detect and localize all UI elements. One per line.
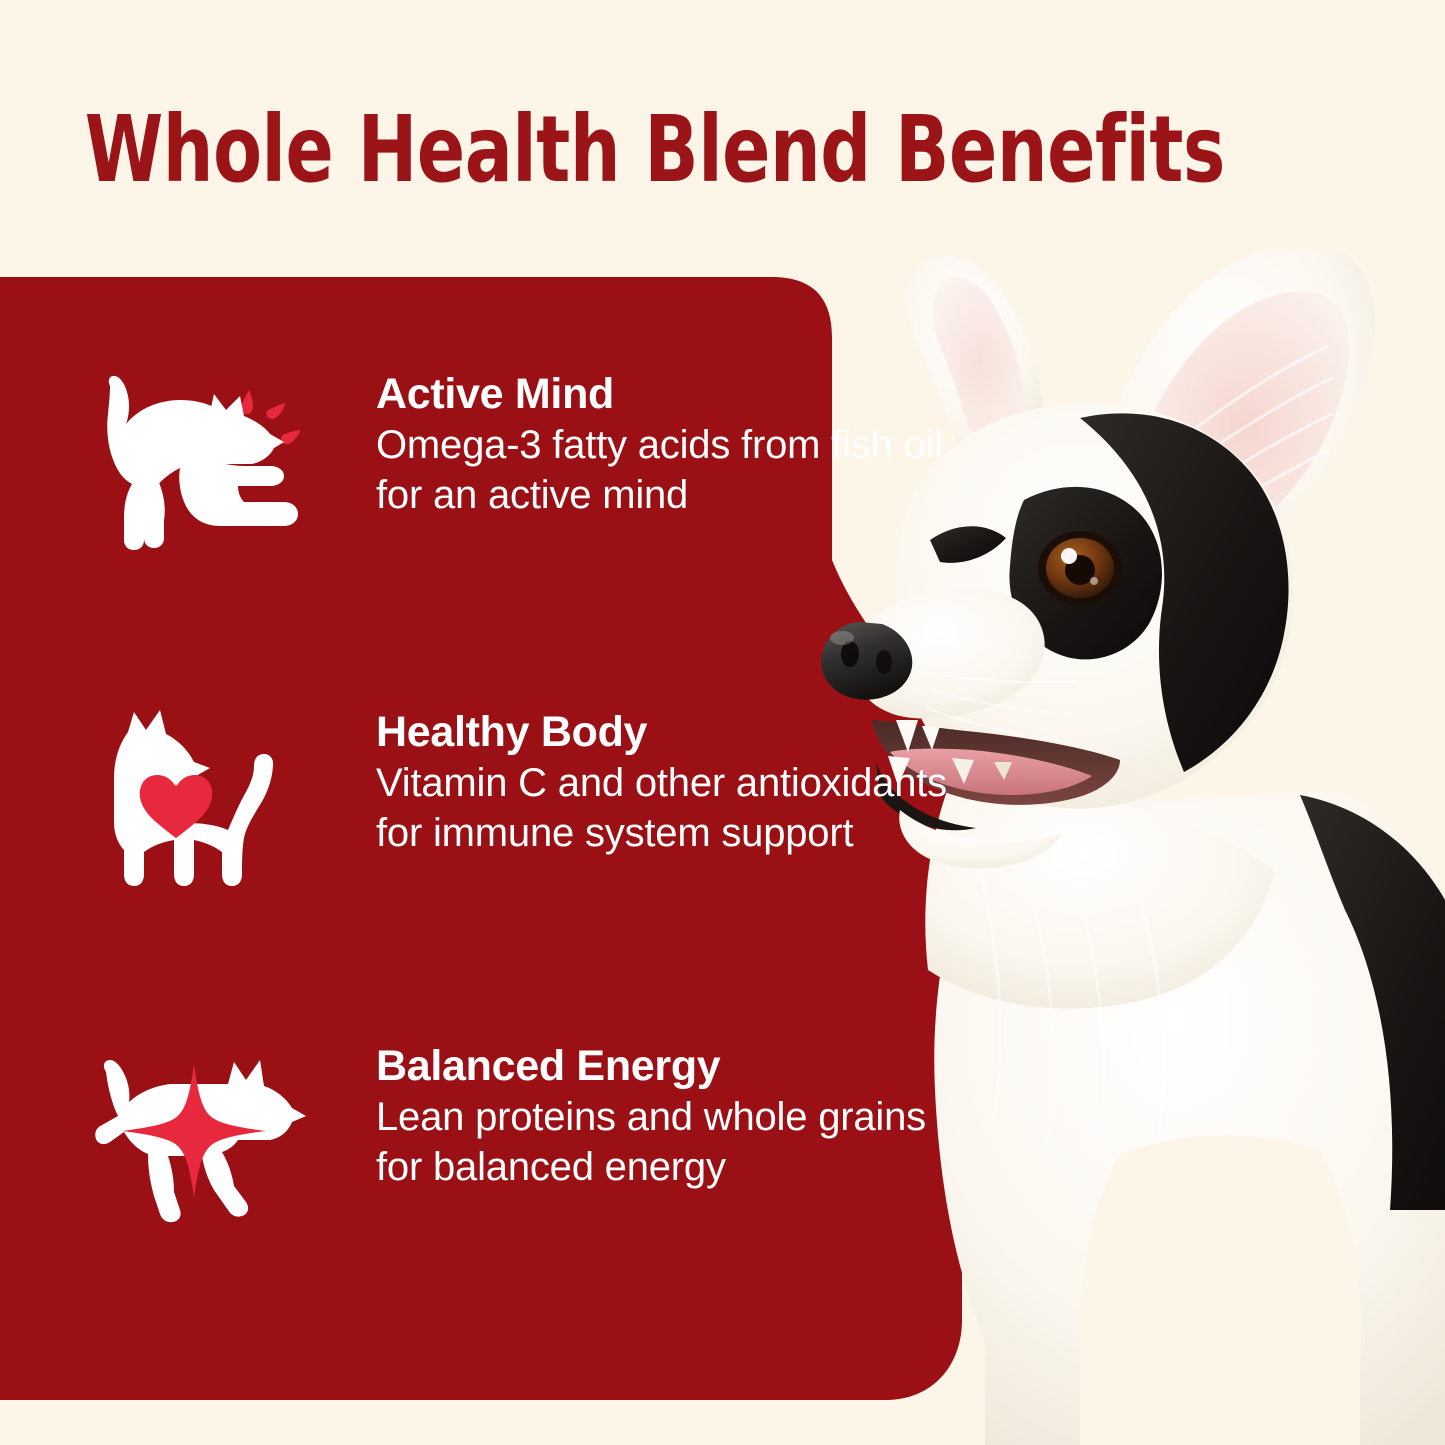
benefit-body: Vitamin C and other antioxidants for imm… [376, 758, 1000, 859]
dog-standing-heart-icon [88, 706, 318, 891]
infographic-canvas: Whole Health Blend Benefits [0, 0, 1445, 1445]
benefit-text-block: Active Mind Omega-3 fatty acids from fis… [376, 368, 976, 520]
benefit-heading: Healthy Body [376, 710, 1000, 756]
benefit-text-block: Balanced Energy Lean proteins and whole … [376, 1040, 976, 1192]
benefit-item-healthy-body: Healthy Body Vitamin C and other antioxi… [88, 706, 1000, 891]
benefit-heading: Active Mind [376, 372, 976, 418]
benefit-text-block: Healthy Body Vitamin C and other antioxi… [376, 706, 1000, 858]
benefit-body: Omega-3 fatty acids from fish oil for an… [376, 420, 976, 521]
benefit-item-balanced-energy: Balanced Energy Lean proteins and whole … [88, 1040, 976, 1225]
page-title: Whole Health Blend Benefits [85, 104, 1126, 196]
benefit-heading: Balanced Energy [376, 1044, 976, 1090]
dog-running-sparkle-icon [88, 1040, 318, 1225]
benefit-item-active-mind: Active Mind Omega-3 fatty acids from fis… [88, 368, 976, 553]
benefit-body: Lean proteins and whole grains for balan… [376, 1092, 976, 1193]
dog-play-bow-sparks-icon [88, 368, 318, 553]
